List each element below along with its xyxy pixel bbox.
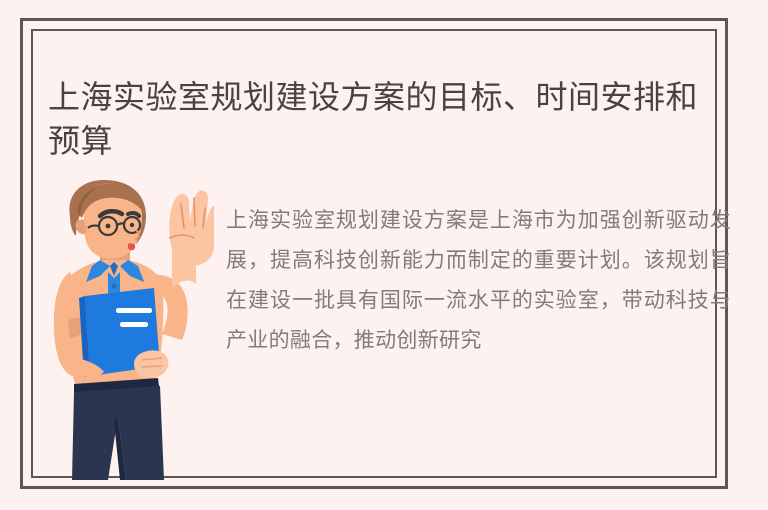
right-hand-shape bbox=[134, 350, 168, 378]
mouth-shape bbox=[128, 243, 135, 250]
page-title: 上海实验室规划建设方案的目标、时间安排和预算 bbox=[48, 75, 720, 163]
head-group bbox=[69, 180, 146, 259]
shirt-button-upper bbox=[111, 283, 116, 288]
waving-hand bbox=[169, 190, 214, 266]
article-body: 上海实验室规划建设方案是上海市为加强创新驱动发展，提高科技创新能力而制定的重要计… bbox=[226, 201, 731, 361]
folder-line-2 bbox=[120, 322, 148, 327]
illustration-man-waving bbox=[44, 180, 214, 480]
illustration-svg bbox=[44, 180, 214, 480]
eye-left bbox=[106, 224, 111, 229]
folder-line-1 bbox=[116, 308, 152, 313]
article-card: 上海实验室规划建设方案的目标、时间安排和预算 bbox=[0, 0, 768, 510]
eye-right bbox=[130, 223, 134, 227]
